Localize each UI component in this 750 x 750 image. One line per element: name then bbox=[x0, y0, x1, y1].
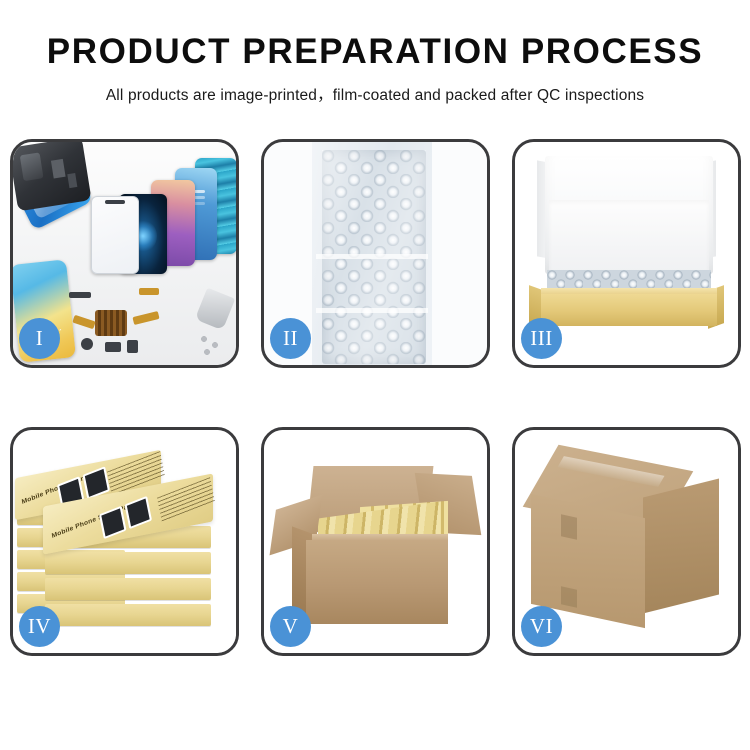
box-artwork-screens bbox=[99, 496, 152, 539]
retail-box-stack-item bbox=[45, 578, 211, 600]
step-badge-3: III bbox=[521, 318, 562, 359]
phone-motherboard-icon bbox=[13, 142, 92, 211]
step-panel-2[interactable]: II bbox=[261, 139, 490, 368]
step-panel-6[interactable]: VI bbox=[512, 427, 741, 656]
connector-part-icon bbox=[105, 342, 121, 352]
pouch-seal-icon bbox=[316, 308, 428, 313]
sim-tray-icon bbox=[139, 288, 159, 295]
step-badge-2: II bbox=[270, 318, 311, 359]
step-badge-1: I bbox=[19, 318, 60, 359]
kraft-box-base-icon bbox=[541, 294, 717, 326]
pouch-seal-icon bbox=[316, 254, 428, 259]
step-panel-1[interactable]: I bbox=[10, 139, 239, 368]
page-header: PRODUCT PREPARATION PROCESS All products… bbox=[0, 0, 750, 105]
box-screen-thumb bbox=[99, 506, 127, 539]
vibrator-part-icon bbox=[127, 340, 138, 353]
page-subtitle: All products are image-printed，film-coat… bbox=[0, 83, 750, 105]
carton-body-icon bbox=[306, 540, 448, 624]
process-steps-grid: I II III bbox=[10, 139, 740, 656]
retail-box-stack-item bbox=[45, 552, 211, 574]
carton-seam-icon bbox=[561, 514, 577, 539]
step-panel-5[interactable]: V bbox=[261, 427, 490, 656]
step-badge-4: IV bbox=[19, 606, 60, 647]
step-panel-4[interactable]: Mobile Phone Spare Parts Mobile Phone Sp… bbox=[10, 427, 239, 656]
ic-chip-icon bbox=[95, 310, 127, 336]
box-spec-lines bbox=[157, 477, 215, 522]
foam-insert-icon bbox=[549, 200, 709, 272]
screen-protector-icon bbox=[91, 196, 139, 274]
carton-seam-icon bbox=[561, 586, 577, 607]
screws-icon bbox=[200, 335, 226, 357]
step-panel-3[interactable]: III bbox=[512, 139, 741, 368]
retail-box-stack-item bbox=[45, 604, 211, 626]
step-badge-5: V bbox=[270, 606, 311, 647]
sealed-carton-side-icon bbox=[643, 479, 719, 614]
page-title: PRODUCT PREPARATION PROCESS bbox=[0, 34, 750, 71]
speaker-part-icon bbox=[69, 292, 91, 298]
step-badge-6: VI bbox=[521, 606, 562, 647]
button-part-icon bbox=[81, 338, 93, 350]
box-screen-thumb bbox=[124, 496, 152, 529]
